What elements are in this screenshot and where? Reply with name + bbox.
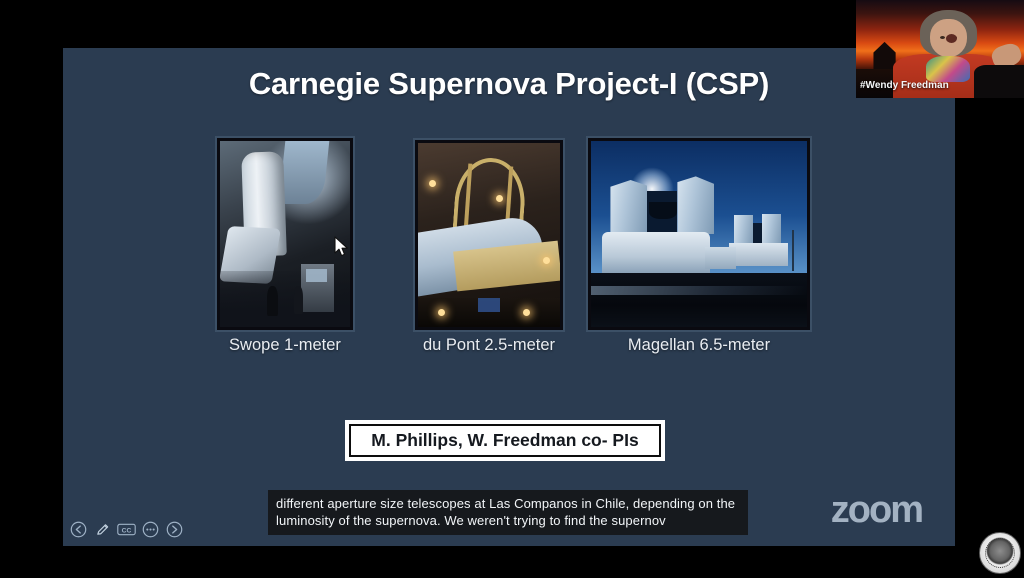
- credit-box-border: M. Phillips, W. Freedman co- PIs: [349, 424, 661, 457]
- participant-name-label: #Wendy Freedman: [856, 79, 953, 92]
- enclosure-base: [729, 243, 787, 265]
- control-panel: [306, 269, 327, 282]
- dome-lamp: [543, 257, 550, 264]
- utility-pole: [792, 230, 794, 271]
- enclosure-panel: [610, 180, 647, 236]
- institution-seal-icon: [979, 532, 1021, 574]
- credit-text: M. Phillips, W. Freedman co- PIs: [371, 430, 638, 451]
- dome-lamp: [496, 195, 503, 202]
- zoom-watermark: zoom: [831, 489, 922, 532]
- mouth: [946, 34, 957, 43]
- enclosure-panel: [762, 214, 781, 246]
- dome-slit-sky: [279, 141, 330, 204]
- dupont-telescope-photo[interactable]: [415, 140, 563, 330]
- annotate-button[interactable]: [92, 519, 112, 539]
- presentation-slide: Carnegie Supernova Project-I (CSP): [63, 48, 955, 546]
- person-silhouette: [294, 286, 303, 314]
- magellan-telescope-artwork: [591, 141, 807, 327]
- dupont-caption: du Pont 2.5-meter: [399, 336, 579, 355]
- telescope-truss: [649, 202, 677, 219]
- more-options-button[interactable]: [140, 519, 160, 539]
- telescope-photo-row: Swope 1-meter du Pont 2.5-meter Magellan…: [63, 138, 955, 338]
- magellan-telescope-photo[interactable]: [588, 138, 810, 330]
- person-silhouette: [267, 286, 279, 316]
- screen-share-view: Carnegie Supernova Project-I (CSP): [0, 0, 1024, 578]
- swope-caption: Swope 1-meter: [203, 336, 367, 355]
- enclosure-base: [602, 232, 710, 273]
- support-building: [705, 247, 735, 269]
- swope-telescope-artwork: [220, 141, 350, 327]
- ground: [591, 273, 807, 327]
- page-title: Carnegie Supernova Project-I (CSP): [63, 66, 955, 102]
- caption-line-1: different aperture size telescopes at La…: [276, 495, 740, 512]
- magellan-caption: Magellan 6.5-meter: [603, 336, 795, 355]
- road: [591, 286, 807, 295]
- next-slide-button[interactable]: [164, 519, 184, 539]
- swope-telescope-photo[interactable]: [217, 138, 353, 330]
- svg-text:CC: CC: [121, 527, 131, 534]
- slide-control-toolbar: CC: [68, 519, 184, 539]
- closed-caption-overlay: different aperture size telescopes at La…: [268, 490, 748, 535]
- enclosure-panel: [677, 176, 714, 234]
- caption-line-2: luminosity of the supernova. We weren't …: [276, 512, 740, 529]
- blue-equipment: [478, 298, 501, 313]
- dome-lamp: [438, 309, 445, 316]
- closed-caption-button[interactable]: CC: [116, 519, 136, 539]
- dupont-telescope-artwork: [418, 143, 560, 327]
- credit-box: M. Phillips, W. Freedman co- PIs: [345, 420, 665, 461]
- dome-lamp: [523, 309, 530, 316]
- eye: [940, 36, 945, 39]
- participant-face: [930, 19, 967, 58]
- previous-slide-button[interactable]: [68, 519, 88, 539]
- participant-video-tile[interactable]: #Wendy Freedman: [856, 0, 1024, 98]
- dome-lamp: [429, 180, 436, 187]
- chair-back: [974, 65, 1024, 98]
- enclosure-panel: [734, 215, 753, 245]
- enclosure-opening: [753, 223, 762, 245]
